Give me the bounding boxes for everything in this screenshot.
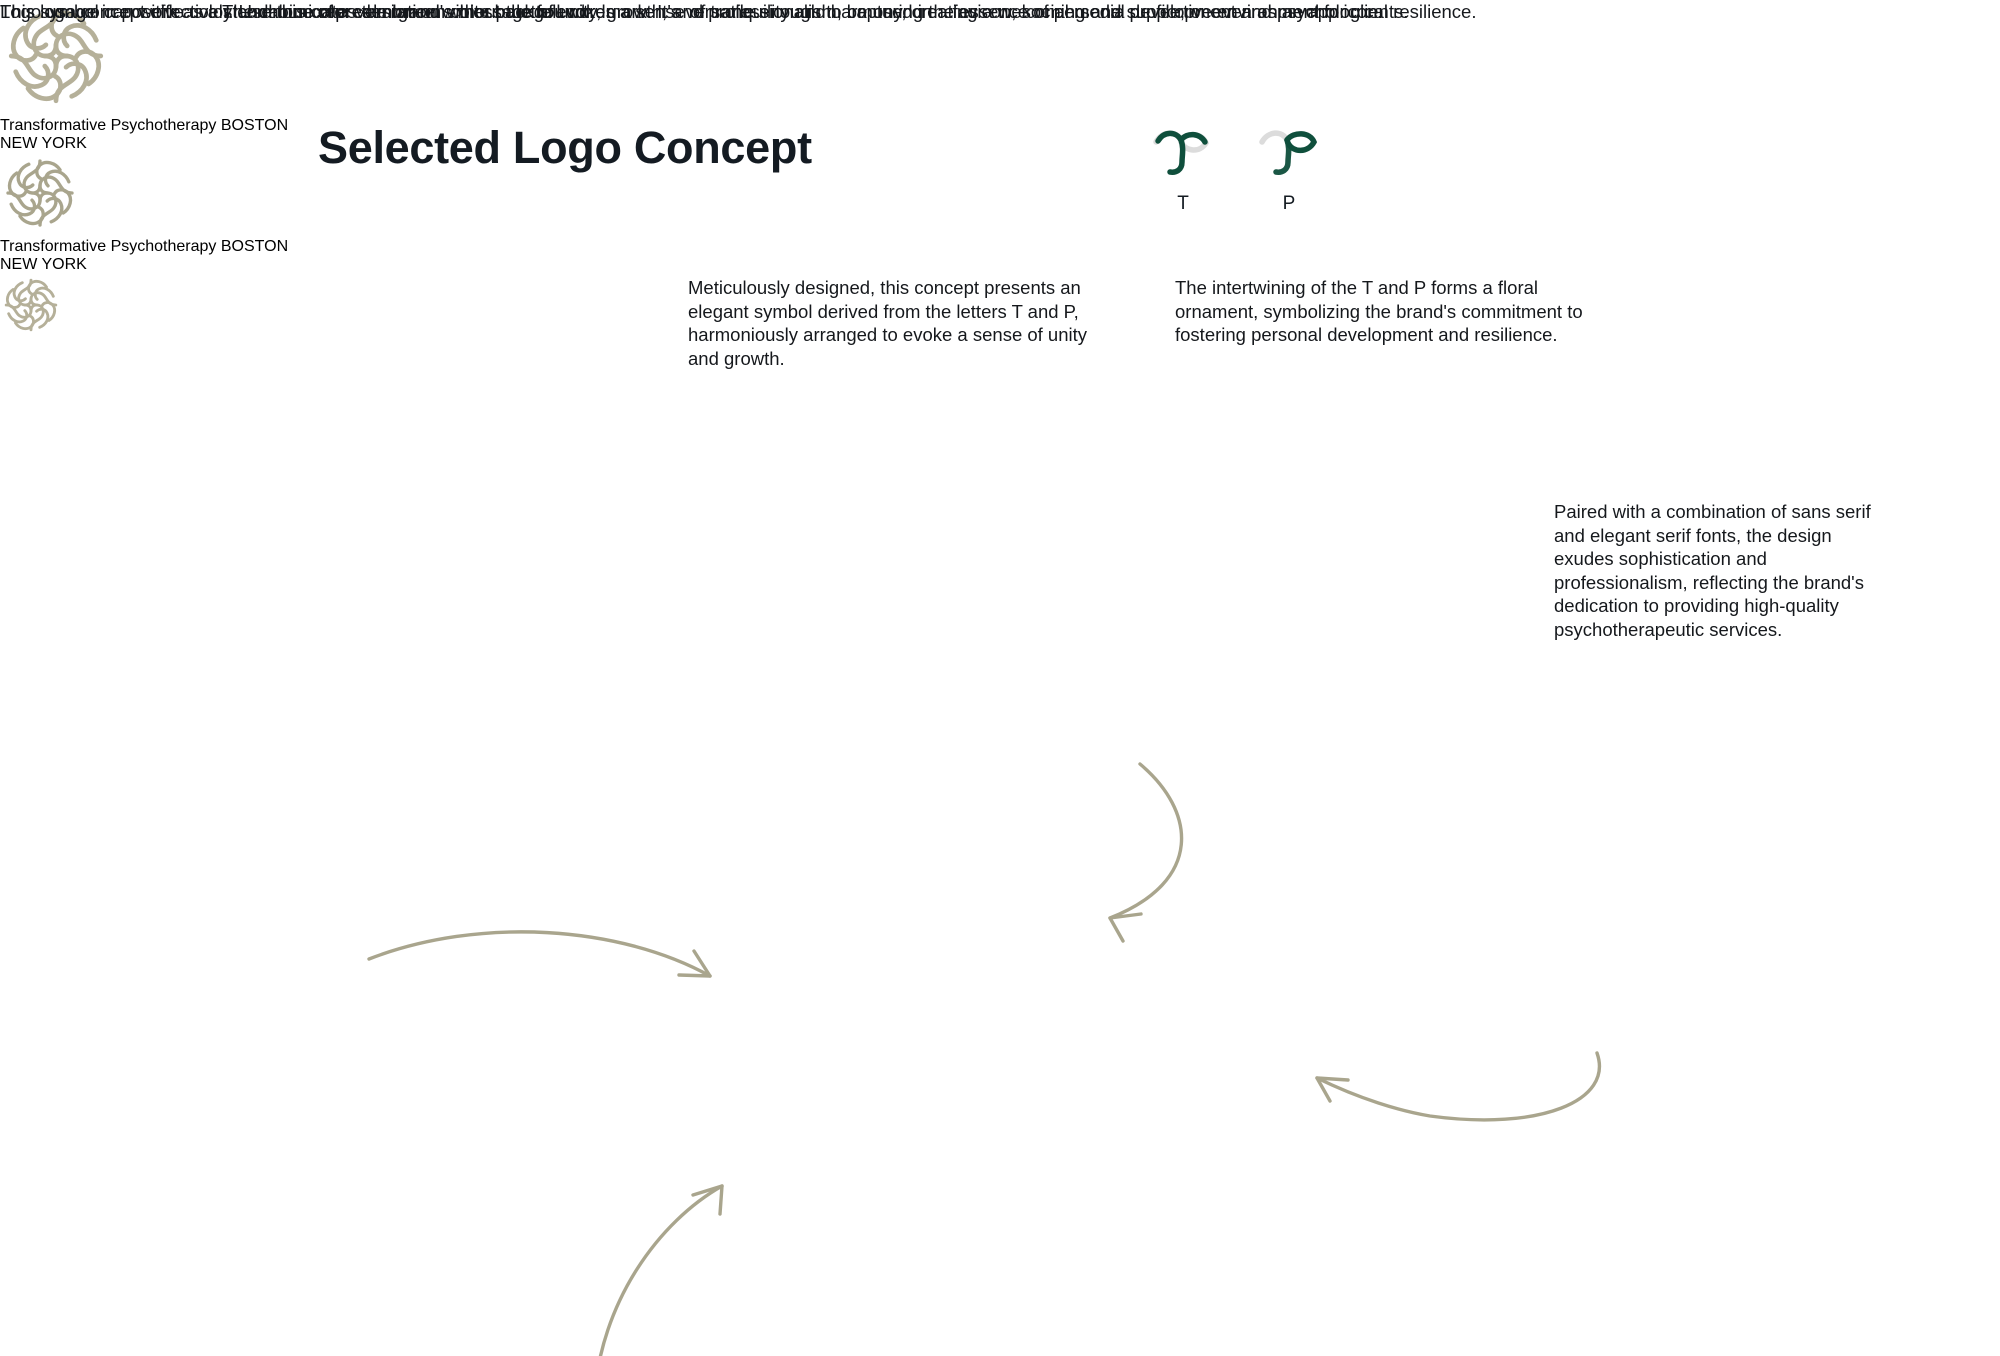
arrow-appicon-to-card — [594, 1186, 722, 1356]
t-letterform-icon — [1148, 118, 1218, 180]
specimen-t: T — [1148, 118, 1218, 215]
arrow-left-to-logo — [369, 932, 710, 976]
specimen-p: P — [1254, 118, 1324, 215]
logo-concept-board: Selected Logo Concept T P Meticulously d… — [0, 0, 2000, 1356]
letterform-specimens: T P — [1148, 118, 1338, 223]
note-typography-pairing: Paired with a combination of sans serif … — [1554, 500, 1874, 641]
city-line2: NEW YORK — [0, 256, 87, 273]
wordmark-line2: Psychotherapy — [111, 117, 217, 134]
specimen-t-caption: T — [1148, 193, 1218, 215]
wordmark-line1: Transformative — [0, 238, 106, 255]
note-concept-derivation: Meticulously designed, this concept pres… — [688, 276, 1088, 370]
logo-lockup-on-light: Transformative Psychotherapy BOSTON NEW … — [0, 153, 2000, 274]
specimen-p-caption: P — [1254, 193, 1324, 215]
wordmark-on-light: Transformative Psychotherapy BOSTON NEW … — [0, 238, 2000, 274]
p-letterform-icon — [1254, 118, 1324, 180]
wordmark-line1: Transformative — [0, 117, 106, 134]
city-line1: BOSTON — [221, 238, 288, 255]
arrow-right-to-logo — [1317, 1053, 1599, 1120]
note-floral-ornament: The intertwining of the T and P forms a … — [1175, 276, 1595, 347]
interlaced-floral-knot-icon — [0, 274, 62, 336]
arrow-top-to-logo — [1110, 764, 1182, 941]
wordmark-line2: Psychotherapy — [111, 238, 217, 255]
page-title: Selected Logo Concept — [318, 122, 812, 174]
note-concept-summary: This logo concept effectively communicat… — [0, 0, 1476, 24]
interlaced-floral-knot-icon — [0, 153, 80, 233]
white-usage-card: Transformative Psychotherapy BOSTON NEW … — [0, 153, 2000, 274]
city-line2: NEW YORK — [0, 135, 87, 152]
city-line1: BOSTON — [221, 117, 288, 134]
wordmark-on-dark: Transformative Psychotherapy BOSTON NEW … — [0, 117, 2000, 153]
connector-arrows — [0, 341, 2000, 1356]
